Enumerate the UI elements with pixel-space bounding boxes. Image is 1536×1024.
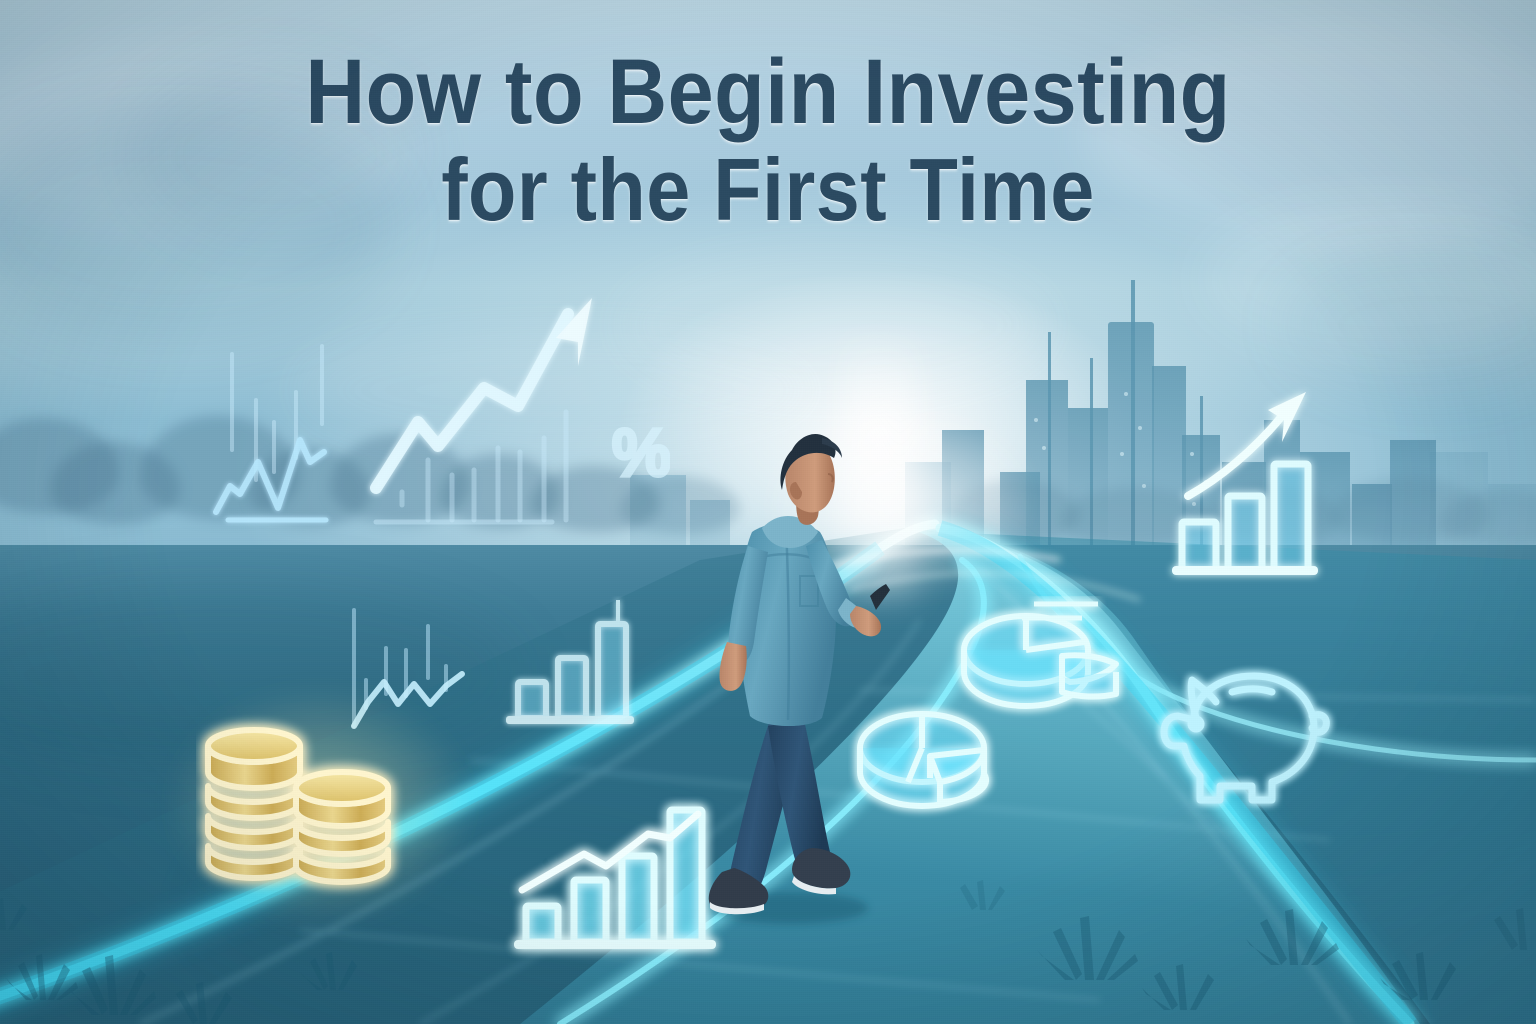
illustration-canvas: % bbox=[0, 0, 1536, 1024]
bar-chart-icon bbox=[488, 596, 648, 732]
piggy-bank-icon bbox=[1148, 650, 1338, 820]
walking-man bbox=[700, 420, 920, 920]
coin-stack-icon bbox=[196, 706, 436, 906]
percent-icon: % bbox=[612, 415, 670, 489]
bar-chart-arrow-icon bbox=[1160, 380, 1350, 600]
growth-arrow-icon: % bbox=[340, 270, 670, 540]
